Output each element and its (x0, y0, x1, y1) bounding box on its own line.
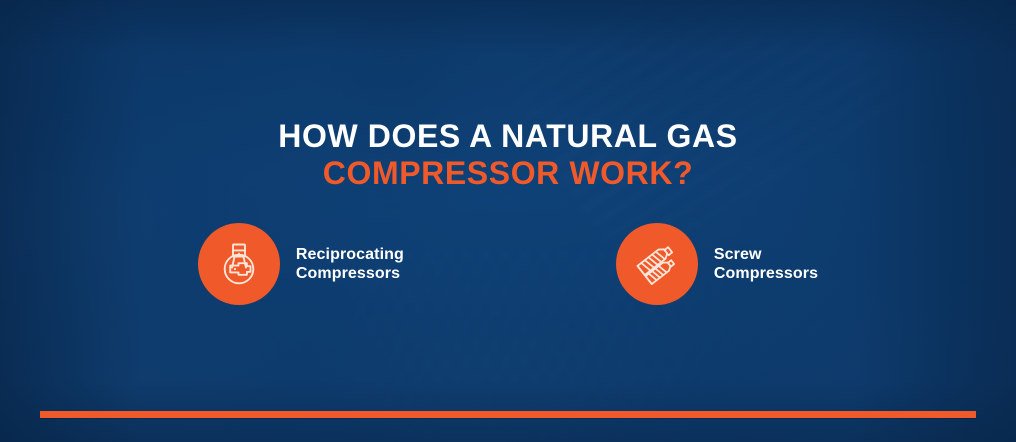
title-line-2: COMPRESSOR WORK? (0, 155, 1016, 192)
list-item-reciprocating-compressors: Reciprocating Compressors (198, 223, 404, 305)
list-item-label: Reciprocating Compressors (296, 245, 404, 283)
list-item-label: Screw Compressors (714, 245, 818, 283)
reciprocating-compressor-icon (198, 223, 280, 305)
list-item-screw-compressors: Screw Compressors (616, 223, 818, 305)
banner-content: HOW DOES A NATURAL GAS COMPRESSOR WORK? (0, 0, 1016, 442)
screw-compressor-icon (616, 223, 698, 305)
accent-divider (40, 411, 976, 418)
infographic-banner: HOW DOES A NATURAL GAS COMPRESSOR WORK? (0, 0, 1016, 442)
compressor-type-list: Reciprocating Compressors (0, 223, 1016, 305)
page-title: HOW DOES A NATURAL GAS COMPRESSOR WORK? (0, 118, 1016, 192)
title-line-1: HOW DOES A NATURAL GAS (0, 118, 1016, 155)
